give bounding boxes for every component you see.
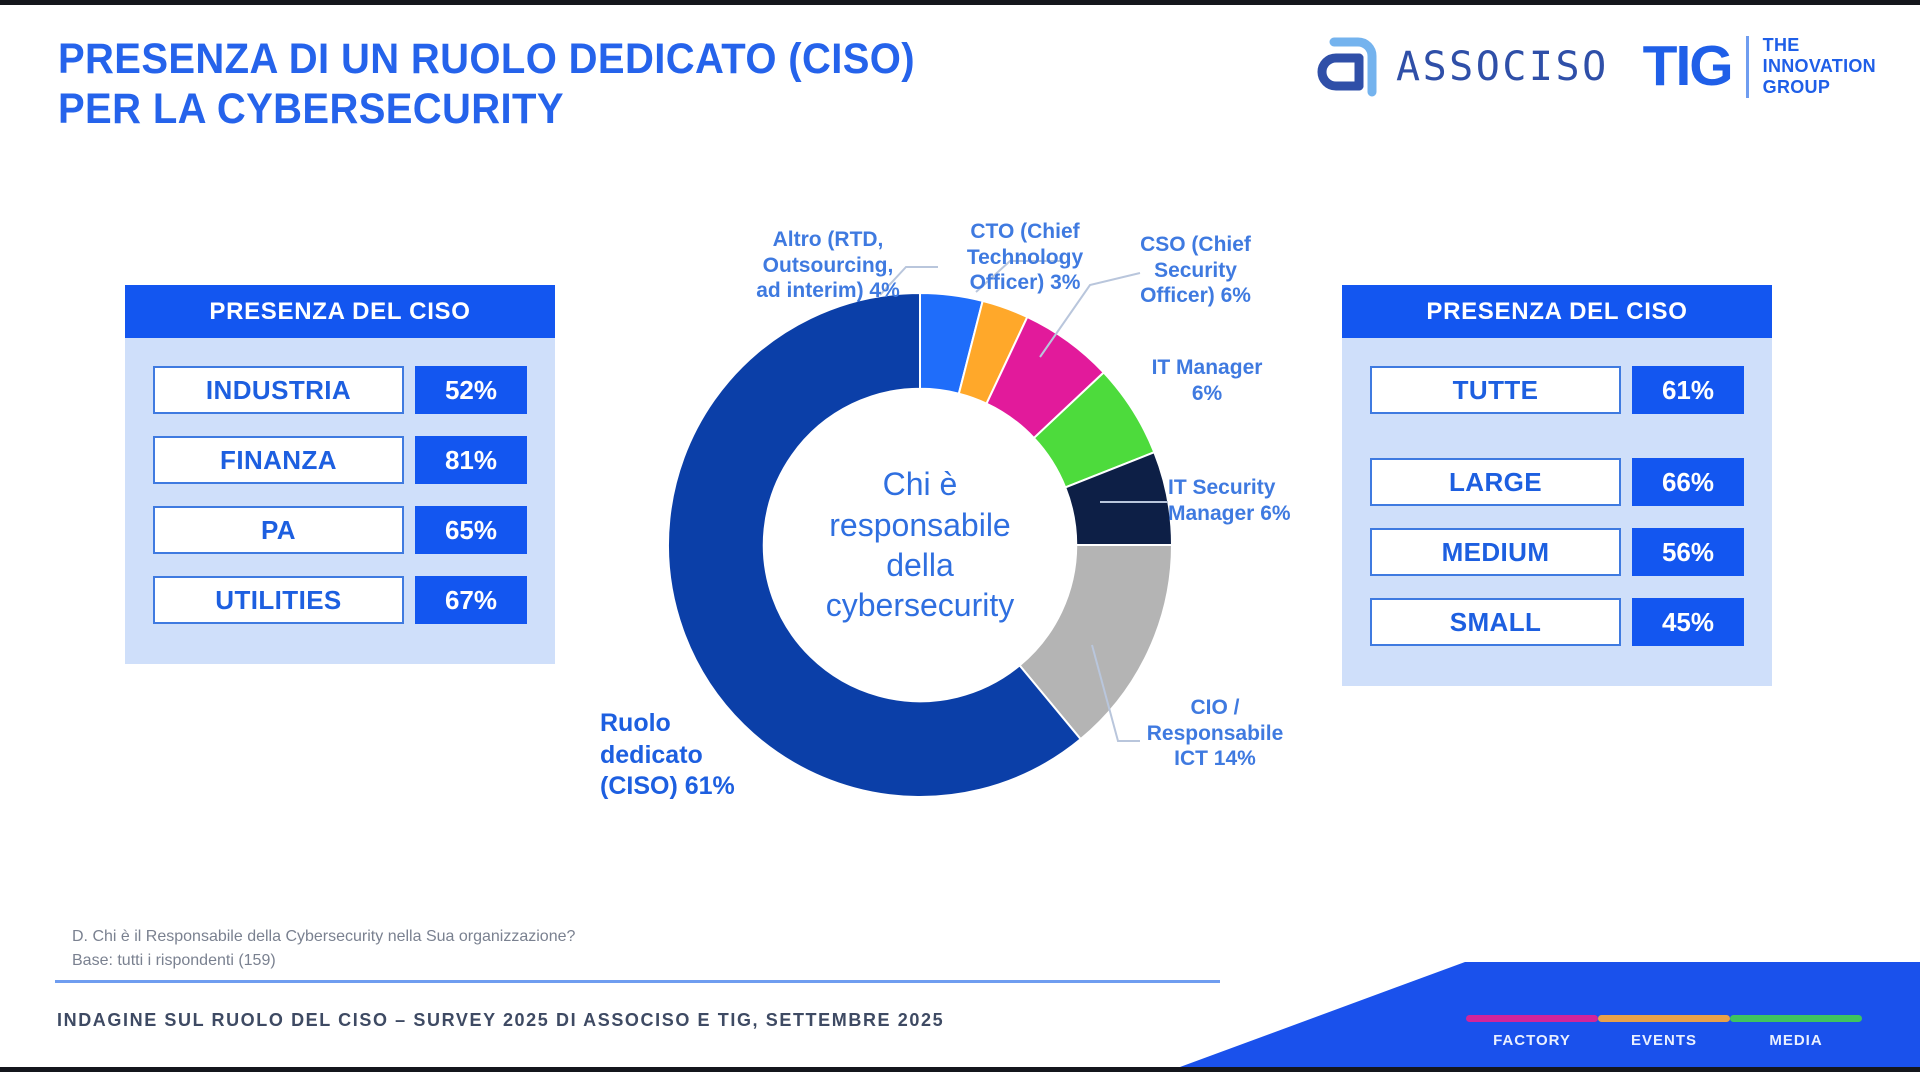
donut-label-it-security-manager: IT Security Manager 6% xyxy=(1168,475,1338,526)
trio-bar xyxy=(1730,1015,1862,1022)
tig-logo: TIG THE INNOVATION GROUP xyxy=(1643,35,1876,99)
row-value: 67% xyxy=(415,576,527,624)
donut-label-cso: CSO (Chief Security Officer) 6% xyxy=(1128,232,1263,309)
row-value: 45% xyxy=(1632,598,1744,646)
row-label: LARGE xyxy=(1370,458,1621,506)
table-row: UTILITIES 67% xyxy=(153,576,527,624)
question-note: D. Chi è il Responsabile della Cybersecu… xyxy=(72,925,575,973)
tig-divider xyxy=(1746,36,1749,98)
table-row: LARGE 66% xyxy=(1370,458,1744,506)
tig-wordmark: TIG xyxy=(1643,38,1732,95)
table-row: FINANZA 81% xyxy=(153,436,527,484)
trio-label: MEDIA xyxy=(1730,1032,1862,1049)
row-label: SMALL xyxy=(1370,598,1621,646)
donut-label-cto: CTO (Chief Technology Officer) 3% xyxy=(955,219,1095,296)
donut-label-altro: Altro (RTD, Outsourcing, ad interim) 4% xyxy=(748,227,908,304)
trio-item-events: EVENTS xyxy=(1598,1015,1730,1049)
table-row: SMALL 45% xyxy=(1370,598,1744,646)
tig-tagline: THE INNOVATION GROUP xyxy=(1763,35,1876,99)
row-label: FINANZA xyxy=(153,436,404,484)
row-label: UTILITIES xyxy=(153,576,404,624)
table-row: PA 65% xyxy=(153,506,527,554)
row-value: 66% xyxy=(1632,458,1744,506)
donut-label-ciso: Ruolo dedicato (CISO) 61% xyxy=(600,708,810,803)
footer-trio: FACTORY EVENTS MEDIA xyxy=(1466,1015,1862,1049)
trio-bar xyxy=(1466,1015,1598,1022)
slide: PRESENZA DI UN RUOLO DEDICATO (CISO) PER… xyxy=(0,0,1920,1072)
left-panel-body: INDUSTRIA 52% FINANZA 81% PA 65% UTILITI… xyxy=(125,338,555,664)
row-value: 81% xyxy=(415,436,527,484)
row-label: TUTTE xyxy=(1370,366,1621,414)
page-title: PRESENZA DI UN RUOLO DEDICATO (CISO) PER… xyxy=(58,35,915,135)
row-label: INDUSTRIA xyxy=(153,366,404,414)
donut-label-it-manager: IT Manager 6% xyxy=(1132,355,1282,406)
logo-group: ASSOCISO TIG THE INNOVATION GROUP xyxy=(1310,35,1876,99)
row-value: 65% xyxy=(415,506,527,554)
left-panel-header: PRESENZA DEL CISO xyxy=(125,285,555,338)
survey-footer-line: INDAGINE SUL RUOLO DEL CISO – SURVEY 202… xyxy=(57,1010,944,1031)
trio-label: FACTORY xyxy=(1466,1032,1598,1049)
right-panel-header: PRESENZA DEL CISO xyxy=(1342,285,1772,338)
trio-label: EVENTS xyxy=(1598,1032,1730,1049)
donut-label-cio: CIO / Responsabile ICT 14% xyxy=(1130,695,1300,772)
table-row: TUTTE 61% xyxy=(1370,366,1744,414)
trio-bar xyxy=(1598,1015,1730,1022)
row-value: 56% xyxy=(1632,528,1744,576)
footer-divider xyxy=(55,980,1220,983)
associso-logo: ASSOCISO xyxy=(1310,36,1609,98)
row-value: 52% xyxy=(415,366,527,414)
associso-a-mark-icon xyxy=(1310,36,1380,98)
table-row: MEDIUM 56% xyxy=(1370,528,1744,576)
row-label: MEDIUM xyxy=(1370,528,1621,576)
trio-item-factory: FACTORY xyxy=(1466,1015,1598,1049)
associso-wordmark: ASSOCISO xyxy=(1396,44,1609,90)
row-label: PA xyxy=(153,506,404,554)
row-value: 61% xyxy=(1632,366,1744,414)
right-panel-body: TUTTE 61% LARGE 66% MEDIUM 56% SMALL 45% xyxy=(1342,338,1772,686)
table-row: INDUSTRIA 52% xyxy=(153,366,527,414)
left-panel: PRESENZA DEL CISO INDUSTRIA 52% FINANZA … xyxy=(125,285,555,664)
trio-item-media: MEDIA xyxy=(1730,1015,1862,1049)
right-panel: PRESENZA DEL CISO TUTTE 61% LARGE 66% ME… xyxy=(1342,285,1772,686)
